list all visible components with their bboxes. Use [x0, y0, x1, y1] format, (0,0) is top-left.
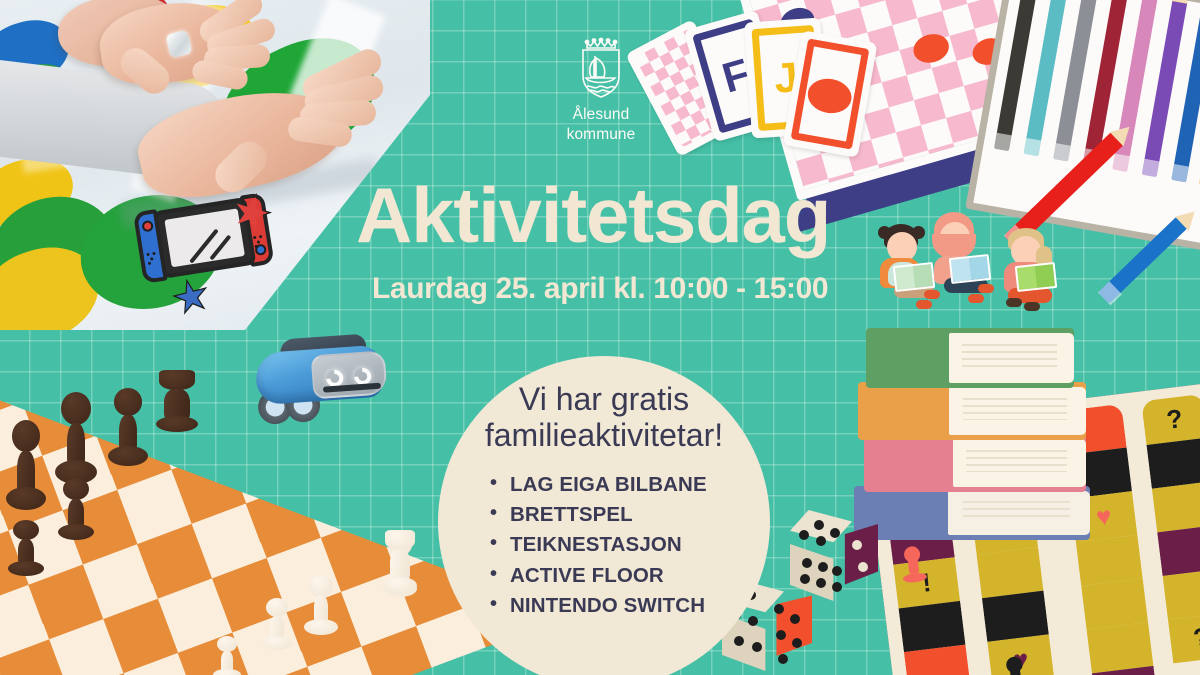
- colored-pencils-tray: [965, 0, 1200, 252]
- logo-line-2: kommune: [546, 125, 656, 145]
- playing-cards: F J: [640, 8, 910, 188]
- list-item: TEIKNESTASJON: [488, 530, 738, 560]
- stack-of-books: [858, 300, 1098, 540]
- activities-list: LAG EIGA BILBANE BRETTSPEL TEIKNESTASJON…: [488, 470, 738, 622]
- event-datetime: Laurdag 25. april kl. 10:00 - 15:00: [372, 272, 828, 306]
- activities-circle: Vi har gratis familieaktivitetar! LAG EI…: [438, 356, 770, 675]
- poster-canvas: F J: [0, 0, 1200, 675]
- list-item: ACTIVE FLOOR: [488, 561, 738, 591]
- pawn-red: [899, 545, 927, 584]
- list-item: LAG EIGA BILBANE: [488, 470, 738, 500]
- page-title: Aktivitetsdag: [356, 178, 830, 253]
- list-item: NINTENDO SWITCH: [488, 591, 738, 621]
- robot-toy-car: [245, 328, 391, 422]
- circle-heading-line-1: Vi har gratis: [454, 382, 754, 418]
- logo-line-1: Ålesund: [546, 105, 656, 125]
- pawn-black: [1001, 655, 1029, 675]
- coat-of-arms-icon: [573, 34, 629, 100]
- list-item: BRETTSPEL: [488, 500, 738, 530]
- alesund-kommune-logo: Ålesund kommune: [546, 34, 656, 144]
- circle-heading-line-2: familieaktivitetar!: [454, 418, 754, 454]
